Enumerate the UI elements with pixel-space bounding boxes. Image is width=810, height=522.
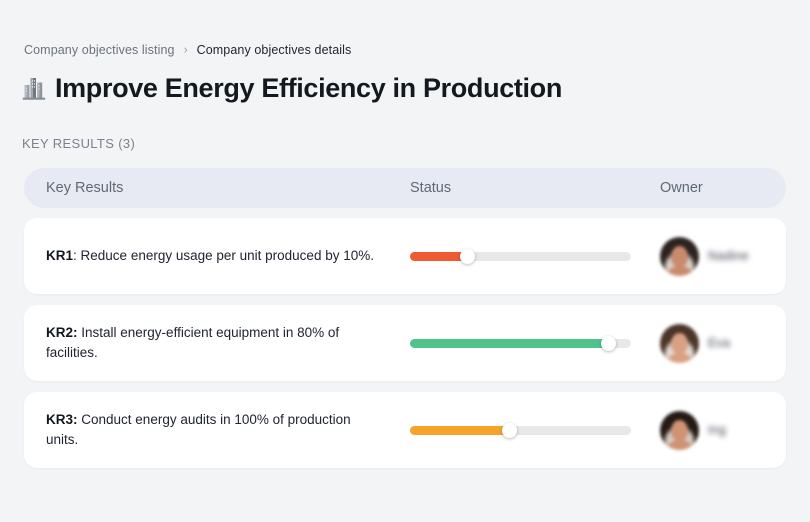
column-header-status: Status xyxy=(410,178,660,198)
breadcrumb-link-objectives-listing[interactable]: Company objectives listing xyxy=(24,42,175,58)
key-result-text: Reduce energy usage per unit produced by… xyxy=(77,248,374,263)
chevron-right-icon: › xyxy=(184,44,188,56)
progress-slider[interactable] xyxy=(410,252,631,261)
progress-slider[interactable] xyxy=(410,426,631,435)
key-results-section-label: KEY RESULTS (3) xyxy=(22,135,135,153)
owner-cell: Nadine xyxy=(660,237,786,276)
key-result-description: KR1: Reduce energy usage per unit produc… xyxy=(24,246,410,266)
slider-thumb[interactable] xyxy=(460,249,475,264)
status-cell xyxy=(410,339,660,348)
status-cell xyxy=(410,426,660,435)
key-result-code: KR2: xyxy=(46,325,78,340)
page-root: Company objectives listing › Company obj… xyxy=(0,0,810,522)
owner-name: Eva xyxy=(708,335,730,351)
breadcrumb: Company objectives listing › Company obj… xyxy=(24,42,351,58)
progress-slider[interactable] xyxy=(410,339,631,348)
key-result-description: KR3: Conduct energy audits in 100% of pr… xyxy=(24,410,410,450)
avatar[interactable] xyxy=(660,411,699,450)
key-result-code: KR1 xyxy=(46,248,73,263)
key-result-description: KR2: Install energy-efficient equipment … xyxy=(24,323,410,363)
breadcrumb-current-objectives-details: Company objectives details xyxy=(197,42,352,58)
avatar[interactable] xyxy=(660,237,699,276)
key-results-table: Key Results Status Owner KR1: Reduce ene… xyxy=(24,168,786,479)
owner-cell: Eva xyxy=(660,324,786,363)
table-row[interactable]: KR2: Install energy-efficient equipment … xyxy=(24,305,786,381)
key-result-text: Install energy-efficient equipment in 80… xyxy=(46,325,339,360)
key-result-code: KR3: xyxy=(46,412,78,427)
status-cell xyxy=(410,252,660,261)
table-row[interactable]: KR3: Conduct energy audits in 100% of pr… xyxy=(24,392,786,468)
page-title: Improve Energy Efficiency in Production xyxy=(55,71,562,105)
owner-name: Ing xyxy=(708,422,726,438)
table-header-row: Key Results Status Owner xyxy=(24,168,786,208)
slider-fill xyxy=(410,339,609,348)
table-row[interactable]: KR1: Reduce energy usage per unit produc… xyxy=(24,218,786,294)
key-result-text: Conduct energy audits in 100% of product… xyxy=(46,412,351,447)
slider-thumb[interactable] xyxy=(502,423,517,438)
slider-fill xyxy=(410,426,509,435)
slider-thumb[interactable] xyxy=(601,336,616,351)
column-header-key-results: Key Results xyxy=(24,178,410,198)
cityscape-buildings-icon xyxy=(22,75,46,101)
owner-cell: Ing xyxy=(660,411,786,450)
owner-name: Nadine xyxy=(708,248,749,264)
slider-fill xyxy=(410,252,467,261)
page-title-row: Improve Energy Efficiency in Production xyxy=(22,68,562,108)
avatar[interactable] xyxy=(660,324,699,363)
column-header-owner: Owner xyxy=(660,178,786,198)
table-body: KR1: Reduce energy usage per unit produc… xyxy=(24,218,786,468)
